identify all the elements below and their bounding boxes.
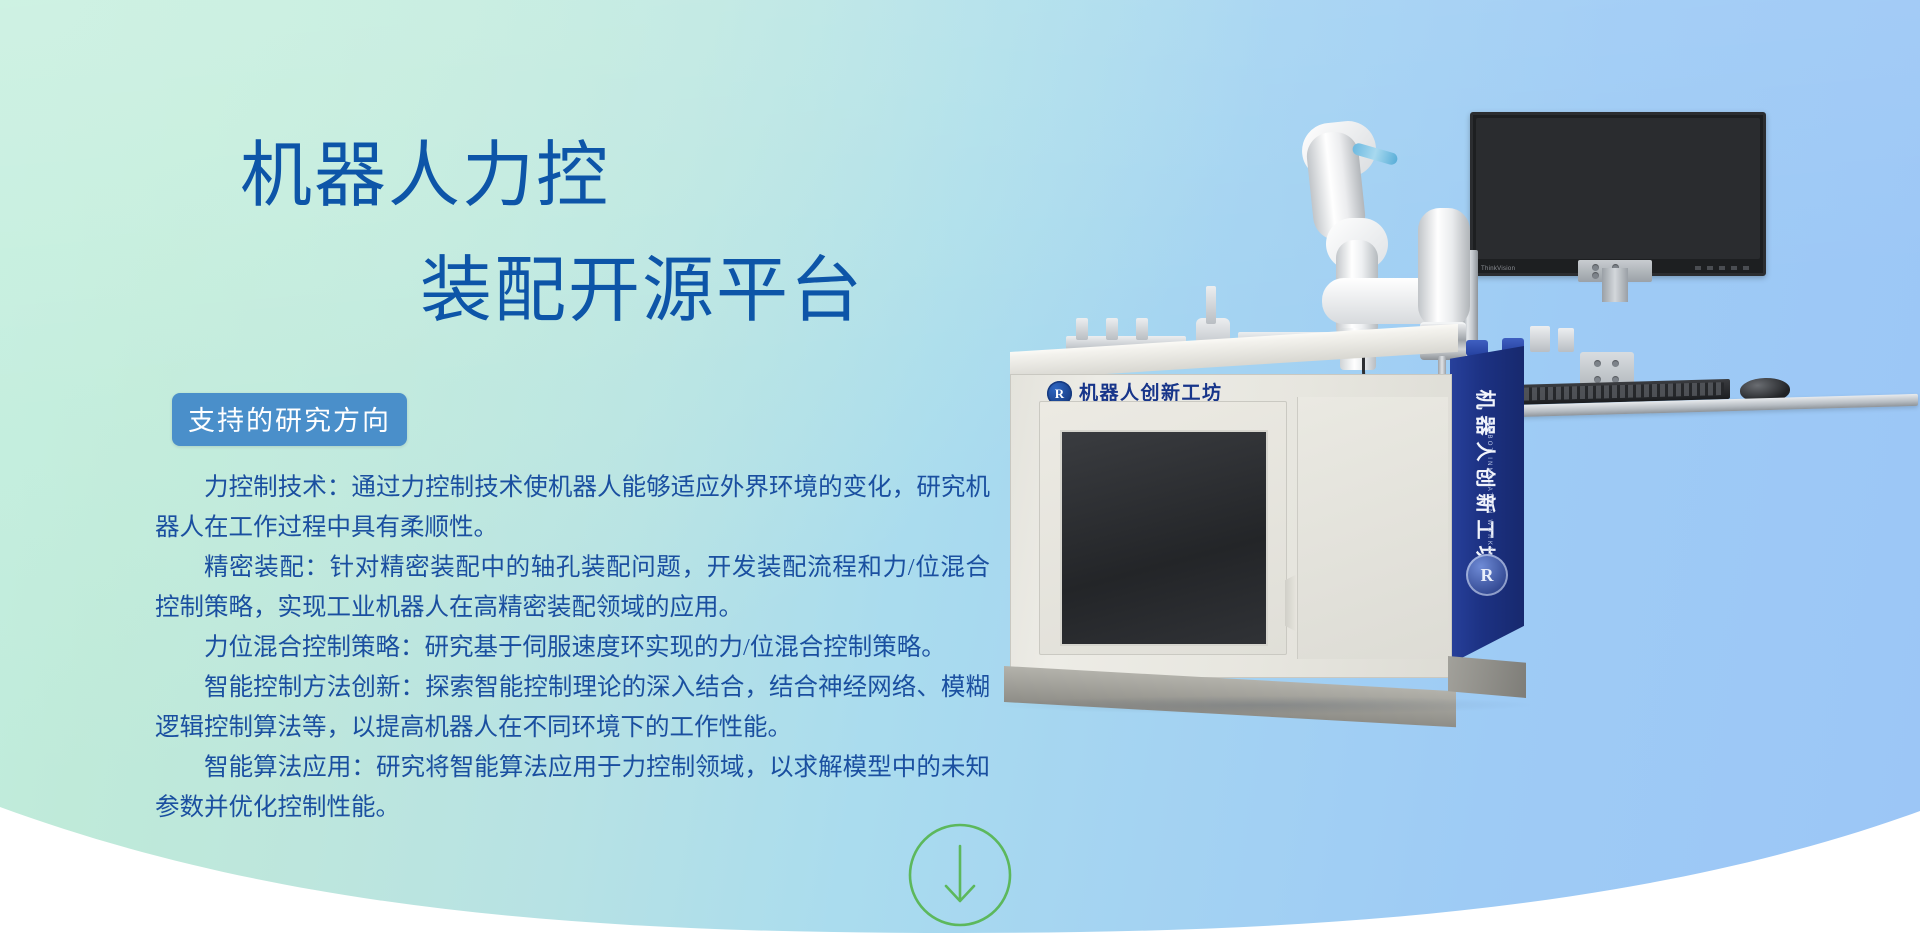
- product-photo-robot-assembly-platform: ThinkVision: [1010, 100, 1920, 840]
- cabinet-door[interactable]: [1039, 401, 1287, 655]
- list-item: 力位混合控制策略：研究基于伺服速度环实现的力/位混合控制策略。: [155, 628, 990, 668]
- monitor: ThinkVision: [1470, 112, 1766, 276]
- monitor-brand-label: ThinkVision: [1481, 266, 1515, 272]
- side-panel-logo-icon: R: [1466, 554, 1508, 596]
- floor-shadow: [1000, 696, 1530, 714]
- fixture-post: [1558, 328, 1574, 352]
- monitor-buttons: [1695, 266, 1755, 270]
- hero-banner: 机器人力控 装配开源平台 支持的研究方向 力控制技术：通过力控制技术使机器人能够…: [0, 0, 1920, 937]
- fixture-post: [1136, 318, 1148, 340]
- cabinet-right-panel: [1297, 397, 1448, 659]
- page-title-line1: 机器人力控: [240, 140, 610, 212]
- fixture-pin: [1206, 286, 1216, 324]
- cabinet-viewing-window: [1060, 430, 1268, 646]
- cabinet-front: R 机器人创新工坊 ROBOT INNOVATION WORKSHOP: [1010, 374, 1452, 678]
- fixture-post: [1106, 318, 1118, 340]
- list-item: 智能控制方法创新：探索智能控制理论的深入结合，结合神经网络、模糊逻辑控制算法等，…: [155, 668, 990, 748]
- monitor-screen: [1476, 118, 1760, 259]
- cabinet-plinth-side: [1448, 656, 1526, 698]
- mount-hole-icon: [1594, 360, 1601, 367]
- list-item: 精密装配：针对精密装配中的轴孔装配问题，开发装配流程和力/位混合控制策略，实现工…: [155, 548, 990, 628]
- fixture-post: [1530, 326, 1550, 352]
- list-item: 力控制技术：通过力控制技术使机器人能够适应外界环境的变化，研究机器人在工作过程中…: [155, 468, 990, 548]
- robot-arm-wrist: [1418, 208, 1470, 328]
- bottom-wave-divider: [0, 737, 1920, 937]
- fixture-post: [1076, 318, 1088, 340]
- page-title-line2: 装配开源平台: [420, 255, 864, 327]
- keyboard-keys: [1516, 382, 1724, 401]
- mount-hole-icon: [1592, 272, 1599, 279]
- monitor-neck: [1602, 268, 1628, 302]
- mount-hole-icon: [1592, 264, 1599, 271]
- section-badge-research-directions: 支持的研究方向: [172, 393, 407, 446]
- mount-hole-icon: [1612, 360, 1619, 367]
- cabinet-side-panel: 机器人创新工坊 ROBOT INNOVATION WORKSHOP R: [1450, 346, 1524, 664]
